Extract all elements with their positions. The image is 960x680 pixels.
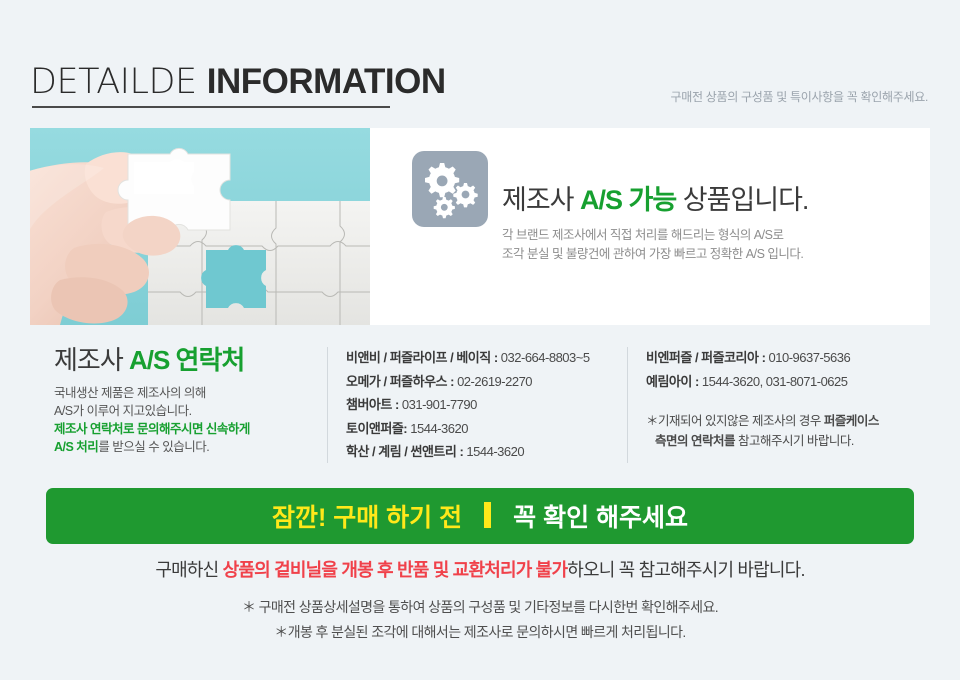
page-title-light: DETAILDE: [30, 62, 197, 102]
contact-note-line1: ＊기재되어 있지않은 제조사의 경우 퍼즐케이스: [646, 411, 936, 431]
contact-description: 국내생산 제품은 제조사의 의해 A/S가 이루어 지고있습니다. 제조사 연락…: [54, 384, 334, 456]
page-title-bold: INFORMATION: [207, 62, 446, 101]
as-subtext-line1: 각 브랜드 제조사에서 직접 처리를 해드리는 형식의 A/S로: [502, 226, 922, 245]
contact-number[interactable]: 032-664-8803~5: [501, 350, 590, 365]
contact-divider-2: [627, 347, 628, 463]
contact-desc-line4-rest: 를 받으실 수 있습니다.: [98, 440, 209, 454]
contact-number[interactable]: 1544-3620: [410, 421, 468, 436]
contact-column-left: 비앤비 / 퍼즐라이프 / 베이직 : 032-664-8803~5 오메가 /…: [346, 346, 621, 464]
contact-row: 토이앤퍼즐: 1544-3620: [346, 417, 621, 441]
contact-desc-line3: 제조사 연락처로 문의해주시면 신속하게: [54, 420, 334, 438]
contact-title-pre: 제조사: [54, 345, 129, 375]
contact-desc-line2: A/S가 이루어 지고있습니다.: [54, 402, 334, 420]
as-info-panel: 제조사 A/S 가능 상품입니다. 각 브랜드 제조사에서 직접 처리를 해드리…: [30, 128, 930, 325]
contact-note-line2-bold: 측면의 연락처를: [655, 434, 735, 448]
page-header: DETAILDE INFORMATION 구매전 상품의 구성품 및 특이사항을…: [30, 62, 930, 108]
contact-divider-1: [327, 347, 328, 463]
contact-number[interactable]: 1544-3620: [466, 444, 524, 459]
manufacturer-contact-section: 제조사 A/S 연락처 국내생산 제품은 제조사의 의해 A/S가 이루어 지고…: [30, 340, 930, 470]
contact-label: 챔버아트 :: [346, 397, 402, 412]
contact-row: 학산 / 계림 / 썬앤트리 : 1544-3620: [346, 440, 621, 464]
contact-note-line1-bold: 퍼즐케이스: [824, 414, 879, 428]
contact-desc-line1: 국내생산 제품은 제조사의 의해: [54, 384, 334, 402]
footer-main-red: 상품의 겉비닐을 개봉 후 반품 및 교환처리가 불가: [223, 560, 568, 580]
contact-column-right: 비엔퍼즐 / 퍼즐코리아 : 010-9637-5636 예림아이 : 1544…: [646, 346, 936, 451]
contact-note-line1-pre: ＊기재되어 있지않은 제조사의 경우: [646, 414, 824, 428]
contact-note-line2: 측면의 연락처를 참고해주시기 바랍니다.: [646, 431, 936, 451]
as-heading: 제조사 A/S 가능 상품입니다.: [502, 183, 922, 217]
as-heading-pre: 제조사: [502, 185, 580, 215]
contact-title: 제조사 A/S 연락처: [54, 344, 334, 376]
footer-notices: 구매하신 상품의 겉비닐을 개봉 후 반품 및 교환처리가 불가하오니 꼭 참고…: [0, 556, 960, 645]
footer-sub-notices: ＊ 구매전 상품상세설명을 통하여 상품의 구성품 및 기타정보를 다시한번 확…: [0, 595, 960, 645]
footer-sub-line1: ＊ 구매전 상품상세설명을 통하여 상품의 구성품 및 기타정보를 다시한번 확…: [0, 595, 960, 620]
title-underline: [32, 106, 390, 108]
contact-label: 학산 / 계림 / 썬앤트리 :: [346, 444, 466, 459]
product-detail-page: DETAILDE INFORMATION 구매전 상품의 구성품 및 특이사항을…: [0, 0, 960, 680]
contact-label: 오메가 / 퍼즐하우스 :: [346, 374, 457, 389]
contact-row: 챔버아트 : 031-901-7790: [346, 393, 621, 417]
contact-note: ＊기재되어 있지않은 제조사의 경우 퍼즐케이스 측면의 연락처를 참고해주시기…: [646, 411, 936, 451]
as-subtext: 각 브랜드 제조사에서 직접 처리를 해드리는 형식의 A/S로 조각 분실 및…: [502, 226, 922, 264]
contact-row: 비엔퍼즐 / 퍼즐코리아 : 010-9637-5636: [646, 346, 936, 370]
contact-title-highlight: A/S 연락처: [129, 345, 244, 375]
header-subtitle: 구매전 상품의 구성품 및 특이사항을 꼭 확인해주세요.: [670, 88, 928, 105]
footer-main-post: 하오니 꼭 참고해주시기 바랍니다.: [567, 560, 804, 580]
gears-icon: [412, 151, 488, 227]
contact-desc-line4-green: A/S 처리: [54, 440, 98, 454]
as-availability-block: 제조사 A/S 가능 상품입니다. 각 브랜드 제조사에서 직접 처리를 해드리…: [502, 183, 922, 264]
banner-text-white: 꼭 확인 해주세요: [513, 498, 688, 534]
contact-desc-line4: A/S 처리를 받으실 수 있습니다.: [54, 438, 334, 456]
as-heading-highlight: A/S 가능: [580, 185, 676, 215]
contact-intro: 제조사 A/S 연락처 국내생산 제품은 제조사의 의해 A/S가 이루어 지고…: [54, 344, 334, 456]
contact-label: 비엔퍼즐 / 퍼즐코리아 :: [646, 350, 769, 365]
contact-note-line2-rest: 참고해주시기 바랍니다.: [735, 434, 854, 448]
contact-number[interactable]: 1544-3620, 031-8071-0625: [702, 374, 848, 389]
contact-number[interactable]: 031-901-7790: [402, 397, 477, 412]
footer-sub-line2: ＊개봉 후 분실된 조각에 대해서는 제조사로 문의하시면 빠르게 처리됩니다.: [0, 620, 960, 645]
exclamation-icon: [484, 502, 491, 528]
contact-number[interactable]: 02-2619-2270: [457, 374, 532, 389]
banner-text-yellow: 잠깐! 구매 하기 전: [272, 498, 462, 534]
contact-number[interactable]: 010-9637-5636: [769, 350, 851, 365]
as-subtext-line2: 조각 분실 및 불량건에 관하여 가장 빠르고 정확한 A/S 입니다.: [502, 245, 922, 264]
footer-main-pre: 구매하신: [155, 560, 222, 580]
puzzle-hand-photo: [30, 128, 370, 325]
purchase-warning-banner: 잠깐! 구매 하기 전 꼭 확인 해주세요: [46, 488, 914, 544]
as-heading-post: 상품입니다.: [676, 185, 808, 215]
contact-row: 오메가 / 퍼즐하우스 : 02-2619-2270: [346, 370, 621, 394]
footer-main-notice: 구매하신 상품의 겉비닐을 개봉 후 반품 및 교환처리가 불가하오니 꼭 참고…: [0, 556, 960, 584]
page-title: DETAILDE INFORMATION: [30, 62, 446, 102]
contact-row: 예림아이 : 1544-3620, 031-8071-0625: [646, 370, 936, 394]
contact-label: 토이앤퍼즐:: [346, 421, 410, 436]
contact-row: 비앤비 / 퍼즐라이프 / 베이직 : 032-664-8803~5: [346, 346, 621, 370]
contact-label: 비앤비 / 퍼즐라이프 / 베이직 :: [346, 350, 501, 365]
contact-label: 예림아이 :: [646, 374, 702, 389]
